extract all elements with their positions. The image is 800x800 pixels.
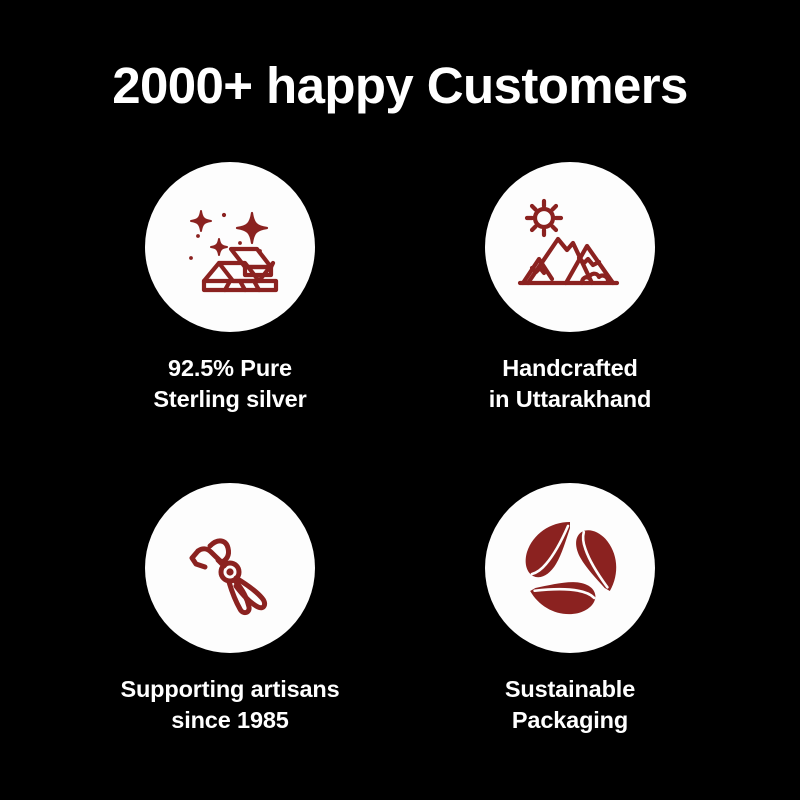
- promo-poster: 2000+ happy Customers: [0, 0, 800, 800]
- silver-bars-sparkle-icon: [174, 191, 286, 303]
- feature-badge: [145, 162, 315, 332]
- feature-badge: [145, 483, 315, 653]
- caption-line-1: 92.5% Pure: [153, 353, 306, 384]
- page-title: 2000+ happy Customers: [0, 58, 800, 114]
- jewelry-pliers-icon: [174, 512, 286, 624]
- feature-badge: [485, 483, 655, 653]
- caption-line-1: Handcrafted: [489, 353, 651, 384]
- feature-grid: 92.5% Pure Sterling silver: [60, 162, 740, 736]
- feature-caption: Sustainable Packaging: [505, 674, 635, 736]
- feature-caption: 92.5% Pure Sterling silver: [153, 353, 306, 415]
- caption-line-2: since 1985: [120, 705, 339, 736]
- feature-caption: Supporting artisans since 1985: [120, 674, 339, 736]
- feature-card-artisans[interactable]: Supporting artisans since 1985: [60, 483, 400, 736]
- feature-card-sustainable[interactable]: Sustainable Packaging: [400, 483, 740, 736]
- caption-line-2: Packaging: [505, 705, 635, 736]
- feature-card-sterling-silver[interactable]: 92.5% Pure Sterling silver: [60, 162, 400, 415]
- three-leaves-recycle-icon: [516, 514, 624, 622]
- caption-line-2: in Uttarakhand: [489, 384, 651, 415]
- caption-line-1: Supporting artisans: [120, 674, 339, 705]
- feature-badge: [485, 162, 655, 332]
- caption-line-1: Sustainable: [505, 674, 635, 705]
- feature-caption: Handcrafted in Uttarakhand: [489, 353, 651, 415]
- caption-line-2: Sterling silver: [153, 384, 306, 415]
- feature-card-handcrafted[interactable]: Handcrafted in Uttarakhand: [400, 162, 740, 415]
- mountains-sun-icon: [514, 191, 626, 303]
